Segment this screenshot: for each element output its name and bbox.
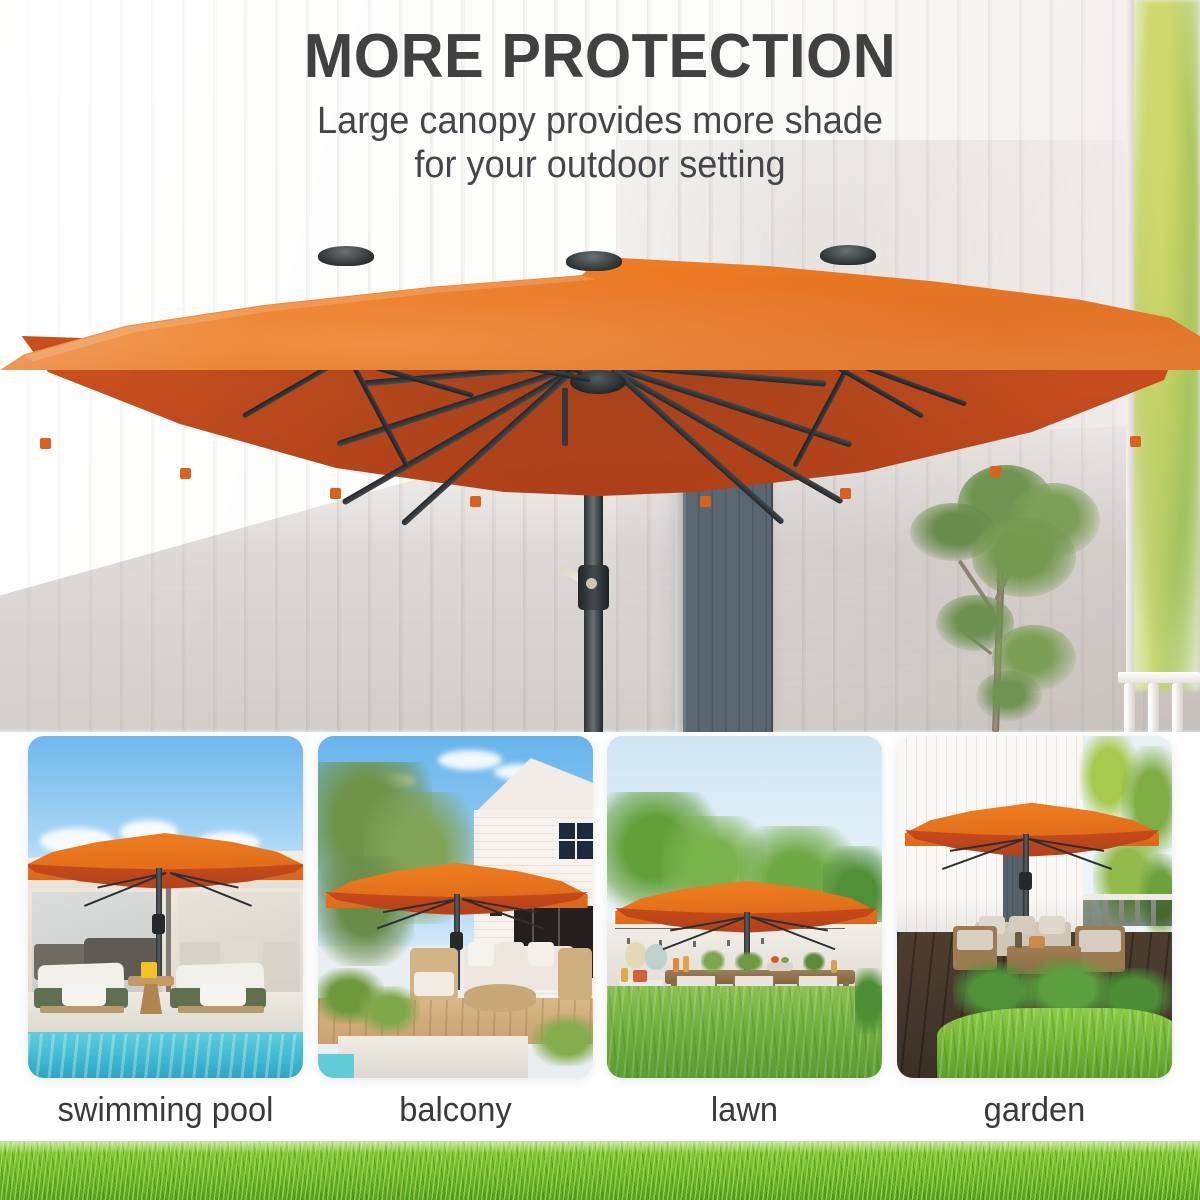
porch-balustrade <box>1118 672 1200 732</box>
finial-center <box>566 251 622 271</box>
thumbnail-garden[interactable] <box>897 736 1172 1078</box>
crank-knob[interactable] <box>586 578 597 589</box>
product-infographic: MORE PROTECTION Large canopy provides mo… <box>0 0 1200 1200</box>
caption-swimming-pool: swimming pool <box>34 1086 298 1134</box>
balustrade-rail <box>1118 672 1200 683</box>
grass-footer-band <box>0 1141 1200 1200</box>
thumbnail-balcony[interactable] <box>318 736 593 1078</box>
subtitle-line-1: Large canopy provides more shade <box>30 100 1170 144</box>
grass-top-fade <box>0 1141 1200 1153</box>
thumbnail-lawn[interactable] <box>607 736 882 1078</box>
thumbnail-captions: swimming pool balcony lawn garden <box>0 1086 1200 1134</box>
page-title: MORE PROTECTION <box>24 26 1176 88</box>
scene-garden <box>897 736 1172 1078</box>
double-sided-umbrella <box>0 240 1200 660</box>
scene-thumbnail-strip <box>0 736 1200 1086</box>
hero-photo: MORE PROTECTION Large canopy provides mo… <box>0 0 1200 732</box>
finial-right <box>820 245 876 265</box>
caption-lawn: lawn <box>613 1086 877 1134</box>
finial-left <box>318 246 374 266</box>
thumbnail-swimming-pool[interactable] <box>28 736 303 1078</box>
caption-balcony: balcony <box>323 1086 587 1134</box>
caption-garden: garden <box>903 1086 1167 1134</box>
scene-balcony <box>318 736 593 1078</box>
tree-foliage <box>976 671 1042 721</box>
headline-block: MORE PROTECTION Large canopy provides mo… <box>0 26 1200 187</box>
subtitle-line-2: for your outdoor setting <box>30 144 1170 188</box>
scene-lawn <box>607 736 882 1078</box>
scene-swimming-pool <box>28 736 303 1078</box>
